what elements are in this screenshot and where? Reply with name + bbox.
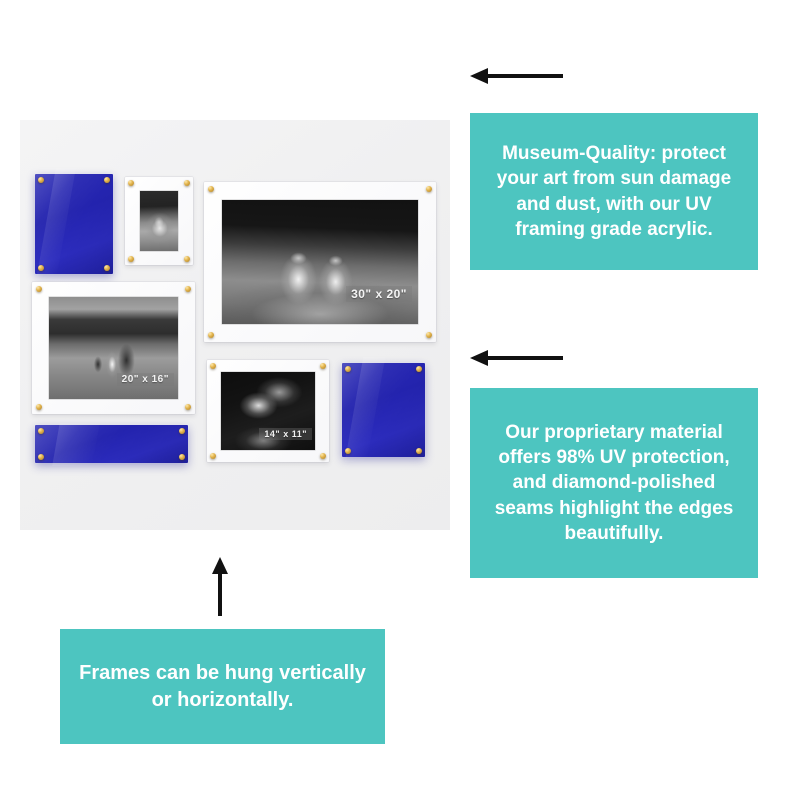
callout-museum-quality: Museum-Quality: protect your art from su… <box>470 113 758 270</box>
standoff-screw-icon <box>104 265 110 271</box>
frame-blue-portrait-bottom-right[interactable] <box>342 363 425 457</box>
standoff-screw-icon <box>208 186 214 192</box>
standoff-screw-icon <box>36 404 42 410</box>
size-label-30x20: 30" x 20" <box>346 286 412 302</box>
standoff-screw-icon <box>416 366 422 372</box>
standoff-screw-icon <box>128 180 134 186</box>
arrow-up-bottom <box>208 556 232 618</box>
callout-hanging-orientation-text: Frames can be hung vertically or horizon… <box>74 660 371 713</box>
size-label-20x16: 20" x 16" <box>117 373 174 386</box>
standoff-screw-icon <box>184 256 190 262</box>
standoff-screw-icon <box>38 265 44 271</box>
standoff-screw-icon <box>345 448 351 454</box>
standoff-screw-icon <box>210 363 216 369</box>
standoff-screw-icon <box>179 428 185 434</box>
frame-blue-landscape-bottom-left[interactable] <box>35 425 188 463</box>
frame-photo-medium-landscape[interactable]: 20" x 16" <box>32 282 195 414</box>
arrow-left-icon <box>468 66 564 86</box>
standoff-screw-icon <box>185 404 191 410</box>
photo-image <box>222 200 418 324</box>
photo-two-girls <box>222 200 418 324</box>
standoff-screw-icon <box>184 180 190 186</box>
standoff-screw-icon <box>185 286 191 292</box>
standoff-screw-icon <box>104 177 110 183</box>
standoff-screw-icon <box>416 448 422 454</box>
standoff-screw-icon <box>320 453 326 459</box>
standoff-screw-icon <box>208 332 214 338</box>
arrow-left-top <box>468 66 564 86</box>
frame-photo-small-portrait[interactable] <box>125 177 193 265</box>
standoff-screw-icon <box>36 286 42 292</box>
standoff-screw-icon <box>128 256 134 262</box>
arrow-up-icon <box>208 556 232 618</box>
gallery-wall: 30" x 20" 20" x 16" <box>20 120 450 530</box>
standoff-screw-icon <box>426 332 432 338</box>
standoff-screw-icon <box>210 453 216 459</box>
callout-uv-protection: Our proprietary material offers 98% UV p… <box>470 388 758 578</box>
standoff-screw-icon <box>38 428 44 434</box>
size-label-14x11: 14" x 11" <box>259 428 312 440</box>
standoff-screw-icon <box>38 454 44 460</box>
standoff-screw-icon <box>320 363 326 369</box>
standoff-screw-icon <box>426 186 432 192</box>
frame-photo-large-landscape[interactable]: 30" x 20" <box>204 182 436 342</box>
callout-uv-protection-text: Our proprietary material offers 98% UV p… <box>484 420 744 545</box>
standoff-screw-icon <box>38 177 44 183</box>
product-feature-infographic: 30" x 20" 20" x 16" <box>0 0 800 800</box>
standoff-screw-icon <box>179 454 185 460</box>
frame-photo-small-landscape[interactable]: 14" x 11" <box>207 360 329 462</box>
arrow-left-middle <box>468 348 564 368</box>
photo-image <box>140 191 178 251</box>
callout-museum-quality-text: Museum-Quality: protect your art from su… <box>484 141 744 241</box>
frame-blue-portrait-top-left[interactable] <box>35 174 113 274</box>
photo-child-on-path <box>140 191 178 251</box>
callout-hanging-orientation: Frames can be hung vertically or horizon… <box>60 629 385 744</box>
standoff-screw-icon <box>345 366 351 372</box>
arrow-left-icon <box>468 348 564 368</box>
